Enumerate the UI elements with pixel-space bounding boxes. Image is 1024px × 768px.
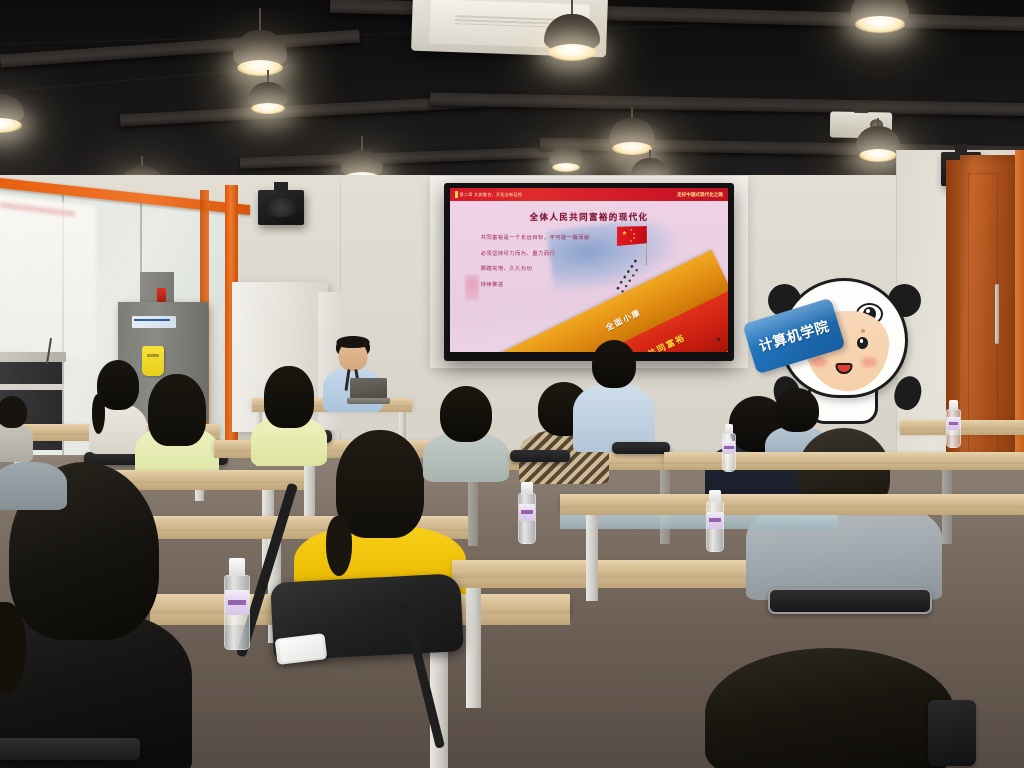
- bottle-body: [224, 575, 250, 650]
- student-front-left-2: [134, 374, 220, 474]
- projector-mount: [854, 103, 869, 113]
- wall-projection-glow: [0, 194, 96, 361]
- smartphone-dark[interactable]: [928, 700, 976, 766]
- tv-power-led: [717, 338, 720, 341]
- student-mid-center: [422, 386, 510, 478]
- bottle-cap: [229, 558, 246, 576]
- phone-screen: [278, 636, 323, 662]
- water-bottle[interactable]: [518, 482, 536, 544]
- chair-backrest: [510, 450, 570, 462]
- panda-arm-right: [891, 373, 925, 413]
- bottle-body: [706, 501, 724, 552]
- slide-bullet: 必须坚持尽力而为、量力而行: [481, 249, 642, 257]
- student-desk: [900, 420, 1024, 494]
- bottle-cap: [725, 424, 734, 434]
- door-handle[interactable]: [995, 284, 999, 344]
- ceiling-beam: [430, 93, 1024, 117]
- chapter-text: 第二章 文旅融合、开拓全新征程: [460, 192, 523, 198]
- panda-freckle: [861, 329, 865, 333]
- slide-watermark-stamp: [465, 275, 479, 301]
- student-foreground-right: [700, 648, 960, 768]
- water-bottle[interactable]: [224, 558, 250, 650]
- water-bottle[interactable]: [706, 490, 724, 552]
- bottle-label: [947, 417, 960, 430]
- chair-backrest: [612, 442, 670, 454]
- bottle-cap: [521, 482, 533, 494]
- ceiling: [0, 0, 1024, 200]
- ponytail: [92, 394, 105, 434]
- speaker-bracket: [274, 182, 289, 191]
- water-bottle[interactable]: [946, 400, 961, 448]
- projection-pink-band: [0, 202, 75, 216]
- wall-speaker-left: [258, 190, 304, 225]
- presentation-display[interactable]: 第二章 文旅融合、开拓全新征程 走好中国式现代化之路 全体人民共同富裕的现代化 …: [444, 183, 734, 361]
- classroom-scene: 第二章 文旅融合、开拓全新征程 走好中国式现代化之路 全体人民共同富裕的现代化 …: [0, 0, 1024, 768]
- slide-chapter-label: 第二章 文旅融合、开拓全新征程: [455, 191, 522, 198]
- flag-cloth: ★ ★ ★ ★ ★: [617, 226, 647, 246]
- bottle-cap: [949, 400, 959, 410]
- slide-course-label: 走好中国式现代化之路: [677, 192, 723, 198]
- bottle-cap: [709, 490, 721, 502]
- student-left-edge-2: [0, 438, 68, 508]
- flag-star-small-icon: ★: [633, 237, 636, 240]
- cabinet-label: [132, 316, 176, 328]
- lectern-top: [0, 352, 66, 362]
- panda-cheek-left: [811, 357, 827, 367]
- bottle-label: [723, 441, 735, 454]
- speaker-bracket: [955, 144, 968, 153]
- china-flag-graphic: ★ ★ ★ ★ ★: [617, 226, 651, 249]
- student-blue-shirt: [572, 340, 656, 450]
- tv-screen: 第二章 文旅融合、开拓全新征程 走好中国式现代化之路 全体人民共同富裕的现代化 …: [450, 188, 728, 352]
- bottle-label: [707, 512, 723, 529]
- bottle-body: [722, 433, 736, 472]
- bottle-label: [225, 590, 249, 615]
- ceiling-beam: [240, 146, 570, 169]
- panda-eye-right: [857, 337, 868, 349]
- student-desk: [560, 494, 1024, 604]
- chapter-tick-icon: [455, 191, 458, 198]
- flag-star-small-icon: ★: [630, 240, 633, 243]
- water-bottle[interactable]: [722, 424, 736, 472]
- bottle-body: [518, 493, 536, 544]
- bottle-body: [946, 409, 961, 448]
- flag-star-large-icon: ★: [622, 231, 627, 237]
- panda-cheek-right: [861, 357, 877, 367]
- ponytail: [326, 516, 352, 576]
- slide-body: 全体人民共同富裕的现代化 共同富裕是一个长远目标，不可能一蹴而就 必须坚持尽力而…: [450, 201, 728, 352]
- lectern-shelf: [0, 384, 64, 390]
- ceiling-beam: [0, 29, 360, 67]
- ceiling-beam: [120, 96, 480, 127]
- presenter-laptop[interactable]: [350, 378, 387, 404]
- door-panel: [968, 173, 998, 459]
- slide-top-banner: 第二章 文旅融合、开拓全新征程 走好中国式现代化之路: [450, 188, 728, 201]
- laptop-lid: [350, 378, 387, 398]
- laptop-base: [347, 398, 390, 404]
- bottle-label: [519, 504, 535, 521]
- slide-title: 全体人民共同富裕的现代化: [450, 211, 728, 223]
- chair-backrest: [0, 738, 140, 760]
- band-yellow-text: 全面小康: [604, 307, 643, 334]
